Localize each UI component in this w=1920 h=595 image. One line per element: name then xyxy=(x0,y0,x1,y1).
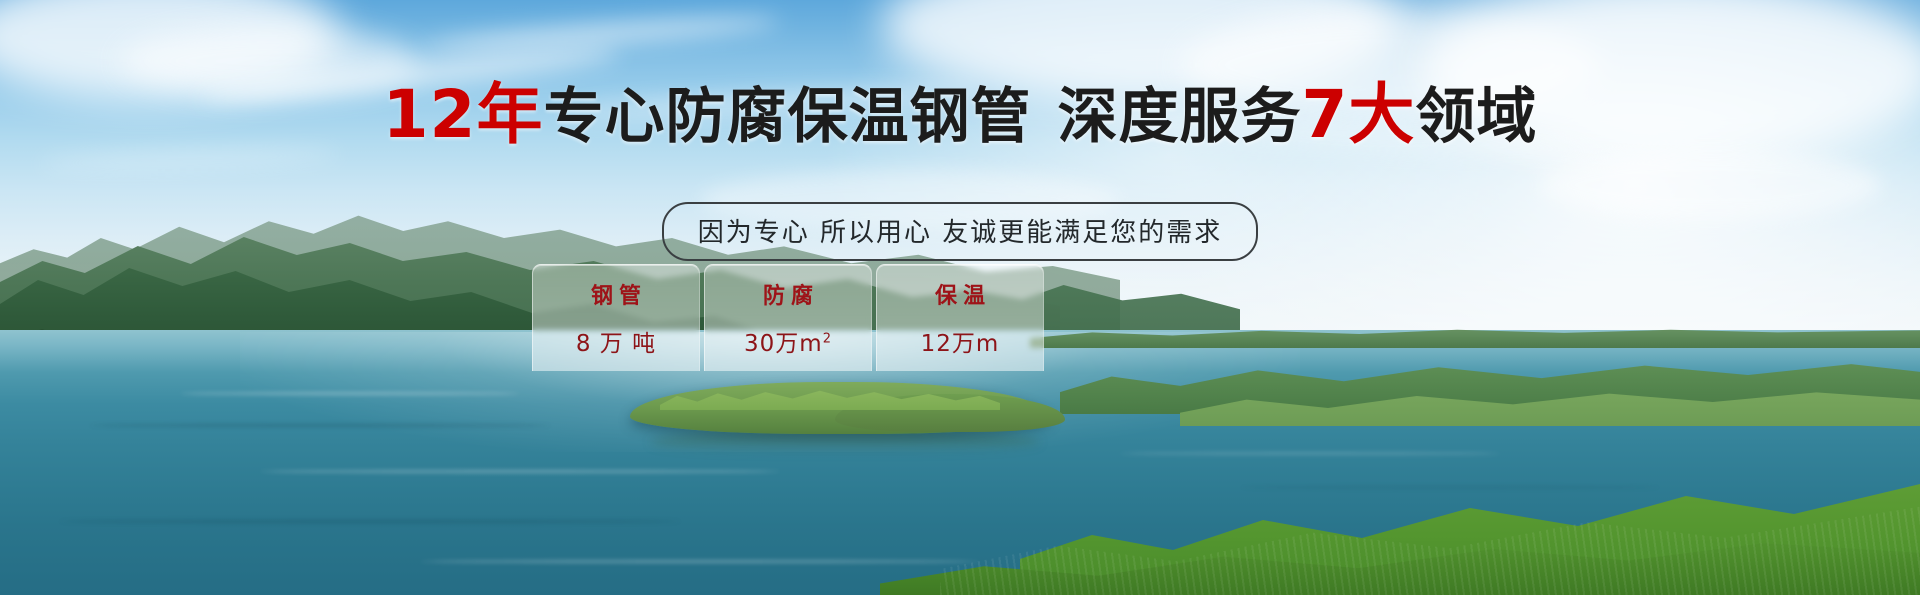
stat-card-value-main: 30万m xyxy=(744,331,823,357)
headline-years-number: 12 xyxy=(383,76,477,153)
stat-card-value-sup: 2 xyxy=(823,331,832,346)
stat-card-list: 钢管 8 万 吨 防腐 30万m2 保温 12万m xyxy=(532,264,1044,371)
headline-main-text: 专心防腐保温钢管 xyxy=(543,82,1031,152)
headline-years-unit: 年 xyxy=(476,76,543,153)
stat-card-label: 保温 xyxy=(929,278,991,310)
stat-card-insulation[interactable]: 保温 12万m xyxy=(876,264,1044,371)
headline-fields-text: 领域 xyxy=(1415,82,1537,152)
stat-card-value: 12万m xyxy=(921,324,1000,358)
headline-fields-unit: 大 xyxy=(1348,76,1415,153)
subtitle-wrap: 因为专心 所以用心 友诚更能满足您的需求 xyxy=(0,202,1920,261)
headline-fields-number: 7 xyxy=(1301,76,1348,153)
subtitle-pill: 因为专心 所以用心 友诚更能满足您的需求 xyxy=(662,202,1259,261)
stat-card-steel-pipe[interactable]: 钢管 8 万 吨 xyxy=(532,264,700,371)
banner-content: 12年专心防腐保温钢管深度服务7大领域 因为专心 所以用心 友诚更能满足您的需求… xyxy=(0,0,1920,595)
stat-card-value: 8 万 吨 xyxy=(576,324,656,358)
stat-card-label: 防腐 xyxy=(757,278,819,310)
stat-card-anticorrosion[interactable]: 防腐 30万m2 xyxy=(704,264,872,371)
stat-card-value: 30万m2 xyxy=(744,324,832,358)
headline: 12年专心防腐保温钢管深度服务7大领域 xyxy=(0,82,1920,148)
hero-banner: 12年专心防腐保温钢管深度服务7大领域 因为专心 所以用心 友诚更能满足您的需求… xyxy=(0,0,1920,595)
headline-service-text: 深度服务 xyxy=(1057,82,1301,152)
stat-card-label: 钢管 xyxy=(585,278,647,310)
stat-card-value-main: 12万m xyxy=(921,331,1000,357)
stat-card-value-main: 8 万 吨 xyxy=(576,331,656,357)
